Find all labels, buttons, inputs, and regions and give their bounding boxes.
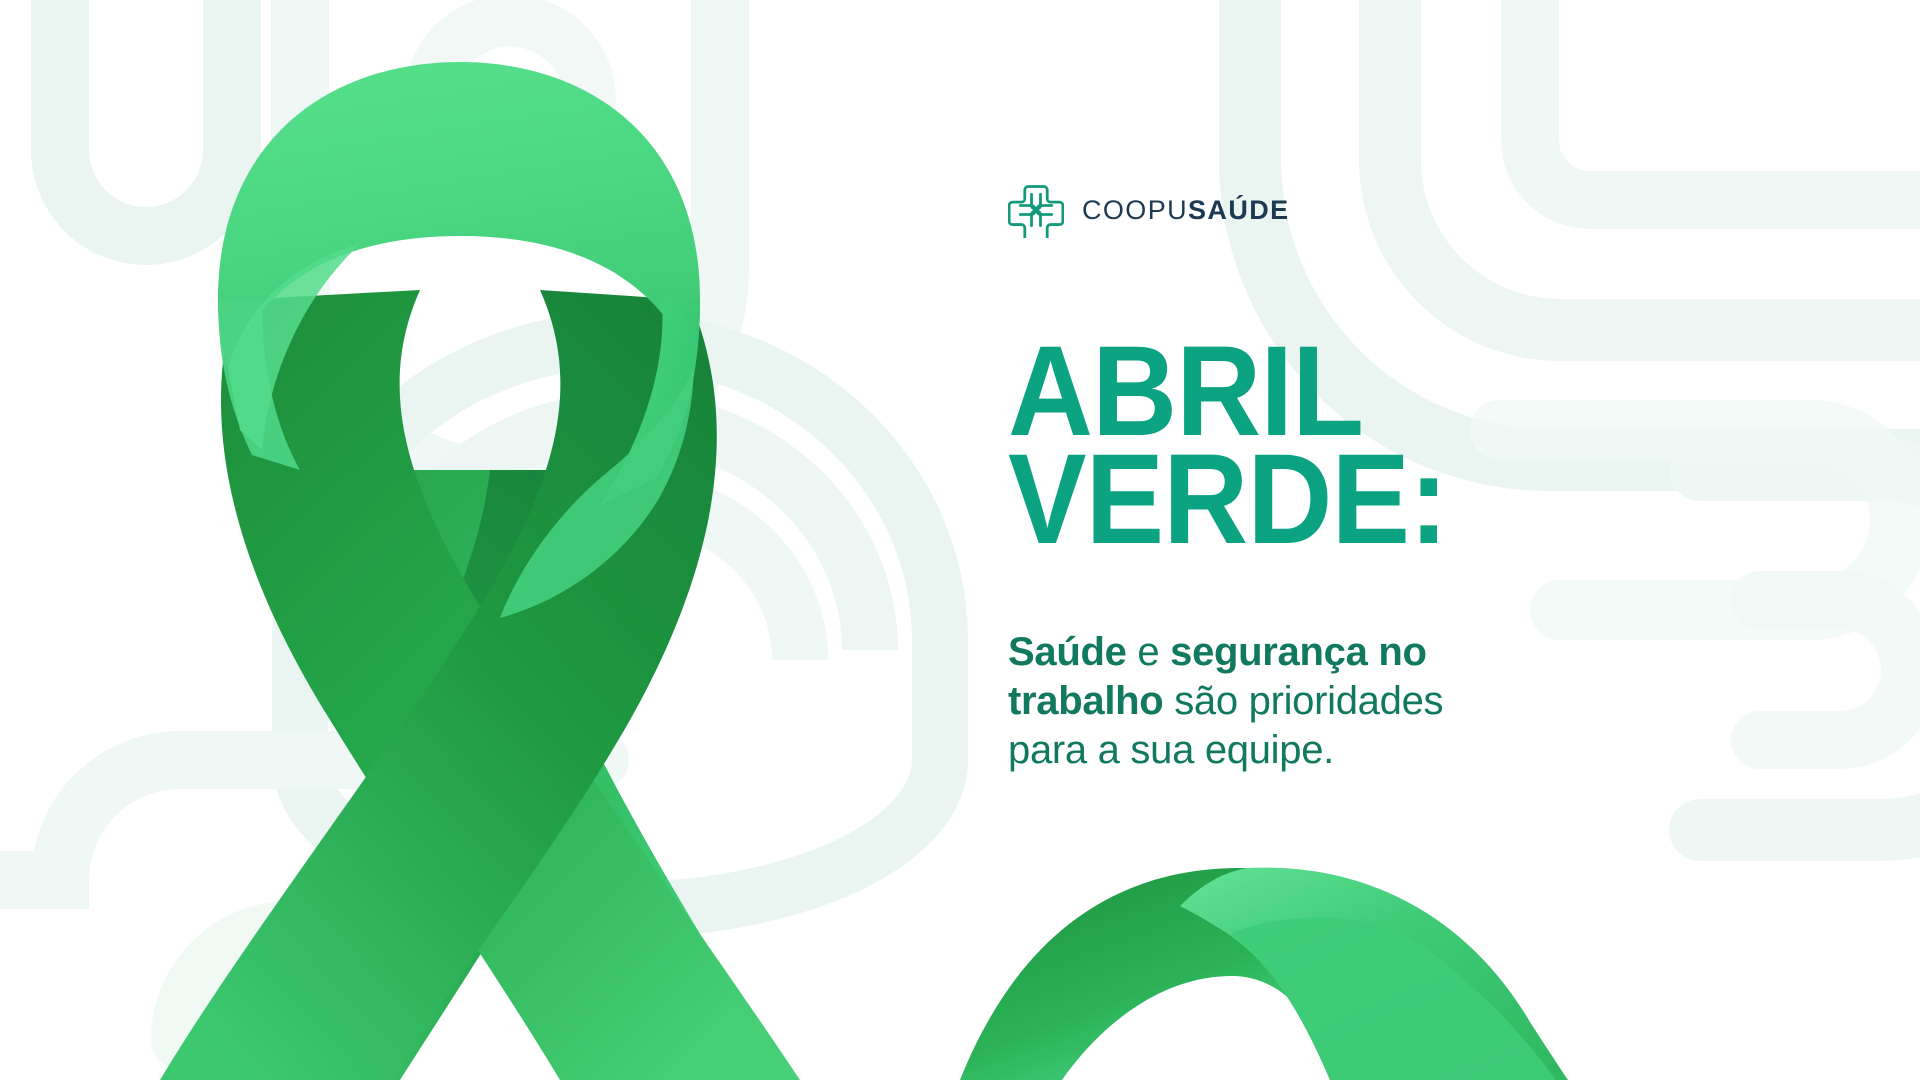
body-copy-strong-trabalho: trabalho xyxy=(1008,679,1163,723)
body-copy-line-2-rest: são prioridades xyxy=(1163,679,1443,723)
banner-canvas: COOPUSAÚDE ABRIL VERDE: Saúde e seguranç… xyxy=(0,0,1920,1080)
headline-line-2: VERDE: xyxy=(1008,446,1726,554)
wordmark-coopu: COOPU xyxy=(1082,195,1188,225)
body-copy-strong-saude: Saúde xyxy=(1008,630,1127,674)
body-copy-line-3: para a sua equipe. xyxy=(1008,726,1648,775)
wordmark-saude: SAÚDE xyxy=(1188,195,1290,225)
page-title: ABRIL VERDE: xyxy=(1008,338,1726,553)
content-layer: COOPUSAÚDE ABRIL VERDE: Saúde e seguranç… xyxy=(0,0,1920,1080)
medical-cross-maze-icon xyxy=(1008,182,1064,238)
brand-wordmark: COOPUSAÚDE xyxy=(1082,197,1290,224)
body-copy-line-1: Saúde e segurança no xyxy=(1008,628,1648,677)
subtitle-copy: Saúde e segurança no trabalho são priori… xyxy=(1008,628,1648,774)
body-copy-connector: e xyxy=(1127,630,1171,674)
body-copy-line-2: trabalho são prioridades xyxy=(1008,677,1648,726)
body-copy-strong-seguranca: segurança no xyxy=(1170,630,1426,674)
brand-logo-lockup[interactable]: COOPUSAÚDE xyxy=(1008,182,1290,238)
